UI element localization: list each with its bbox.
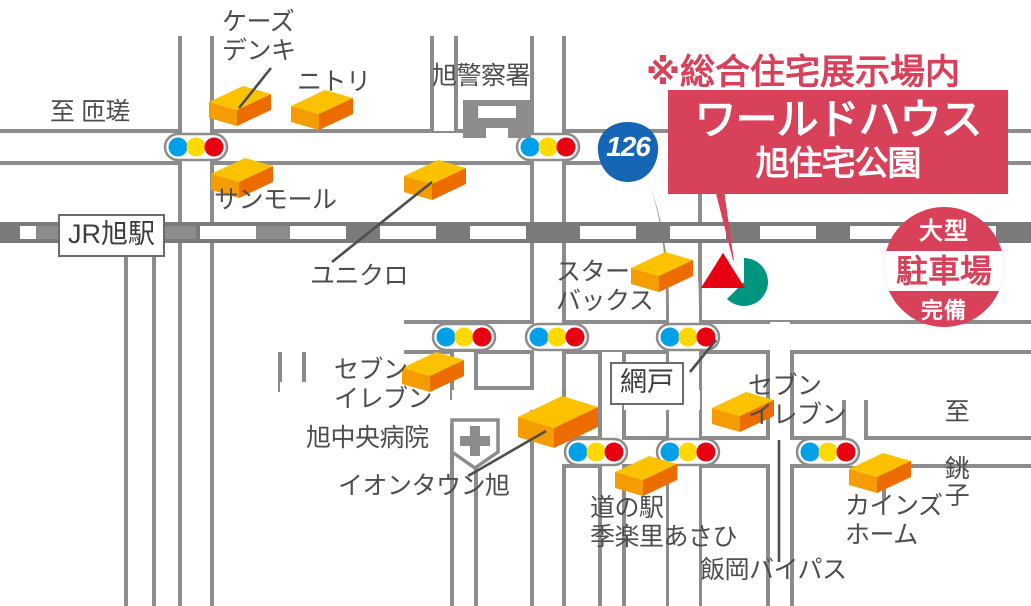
place-label-sunmall: サンモール: [214, 186, 337, 215]
place-label-iioka-bypass: 飯岡バイパス: [700, 556, 847, 585]
signal-icon: [433, 324, 495, 350]
signal-icon: [797, 439, 859, 465]
building-uniqlo: [404, 160, 466, 200]
place-label-nitori: ニトリ: [297, 68, 371, 97]
banner-line-2: 旭住宅公園: [668, 144, 1008, 184]
signal-icon: [526, 324, 588, 350]
place-label-seven-eleven-west: セブン イレブン: [334, 356, 432, 414]
boxed-label-jr-asahi-station: JR旭駅: [58, 214, 165, 257]
place-label-uniqlo: ユニクロ: [310, 262, 408, 291]
place-label-seven-eleven-east: セブン イレブン: [748, 372, 846, 430]
place-label-asahi-police: 旭警察署: [432, 62, 530, 91]
exhibition-note: ※総合住宅展示場内: [646, 44, 960, 95]
direction-label-to-choshi: 至 銚子: [942, 398, 968, 509]
police-station-icon: [463, 100, 531, 140]
place-label-michi-no-eki: 道の駅 季楽里あさひ: [590, 494, 737, 552]
banner-line-1: ワールドハウス: [668, 96, 1008, 144]
signal-icon: [165, 134, 227, 160]
boxed-label-ajito: 網戸: [610, 362, 684, 405]
place-label-asahi-chuo-hospital: 旭中央病院: [306, 424, 429, 453]
destination-banner: ワールドハウス 旭住宅公園: [668, 90, 1008, 194]
place-label-aeon-town-asahi: イオンタウン旭: [338, 472, 510, 501]
parking-badge-middle: 駐車場: [884, 251, 1004, 291]
place-label-cainz-home: カインズ ホーム: [845, 492, 943, 550]
parking-badge: 大型 駐車場 完備: [884, 207, 1004, 327]
place-label-kesdenki: ケーズ デンキ: [222, 8, 296, 66]
direction-label-to-sosa: 至 匝瑳: [50, 98, 130, 127]
place-label-starbucks: スター バックス: [556, 258, 653, 316]
access-map: 至 匝瑳 至 銚子 JR旭駅 網戸 ケーズ デンキ ニトリ 旭警察署 サンモール…: [0, 0, 1031, 606]
signal-icon: [565, 439, 627, 465]
